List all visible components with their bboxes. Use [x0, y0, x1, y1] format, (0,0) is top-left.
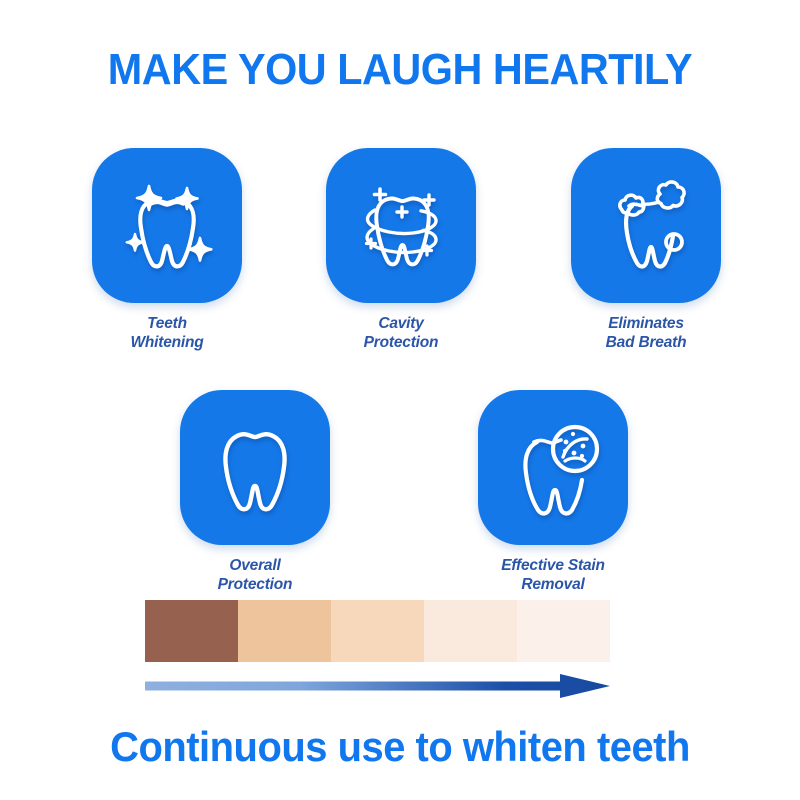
feature-label: Effective Stain Removal [478, 556, 628, 594]
feature-label: Eliminates Bad Breath [571, 314, 721, 352]
shade-swatch-5 [517, 600, 610, 662]
feature-card-effective-stain-removal[interactable]: Effective Stain Removal [478, 390, 628, 594]
page-title: MAKE YOU LAUGH HEARTILY [24, 44, 776, 96]
feature-label: Cavity Protection [326, 314, 476, 352]
shade-swatch-2 [238, 600, 331, 662]
footer-title: Continuous use to whiten teeth [20, 722, 780, 772]
feature-icon-tile [180, 390, 330, 545]
tooth-breath-cloud-icon [596, 176, 696, 276]
feature-card-teeth-whitening[interactable]: Teeth Whitening [92, 148, 242, 352]
feature-card-eliminates-bad-breath[interactable]: Eliminates Bad Breath [571, 148, 721, 352]
tooth-sparkle-icon [119, 176, 215, 276]
feature-card-cavity-protection[interactable]: Cavity Protection [326, 148, 476, 352]
tooth-shield-orbit-icon [351, 176, 451, 276]
poster-canvas: MAKE YOU LAUGH HEARTILY Teeth Whitening [0, 0, 800, 800]
feature-icon-tile [571, 148, 721, 303]
shade-swatch-3 [331, 600, 424, 662]
tooth-stain-bubble-icon [503, 418, 603, 518]
whitening-progress-arrow [145, 673, 610, 699]
feature-label: Overall Protection [180, 556, 330, 594]
feature-label: Teeth Whitening [92, 314, 242, 352]
feature-icon-tile [92, 148, 242, 303]
tooth-outline-icon [209, 418, 301, 518]
feature-card-overall-protection[interactable]: Overall Protection [180, 390, 330, 594]
shade-swatch-4 [424, 600, 517, 662]
tooth-shade-scale [145, 600, 610, 662]
feature-icon-tile [478, 390, 628, 545]
shade-swatch-1 [145, 600, 238, 662]
feature-icon-tile [326, 148, 476, 303]
